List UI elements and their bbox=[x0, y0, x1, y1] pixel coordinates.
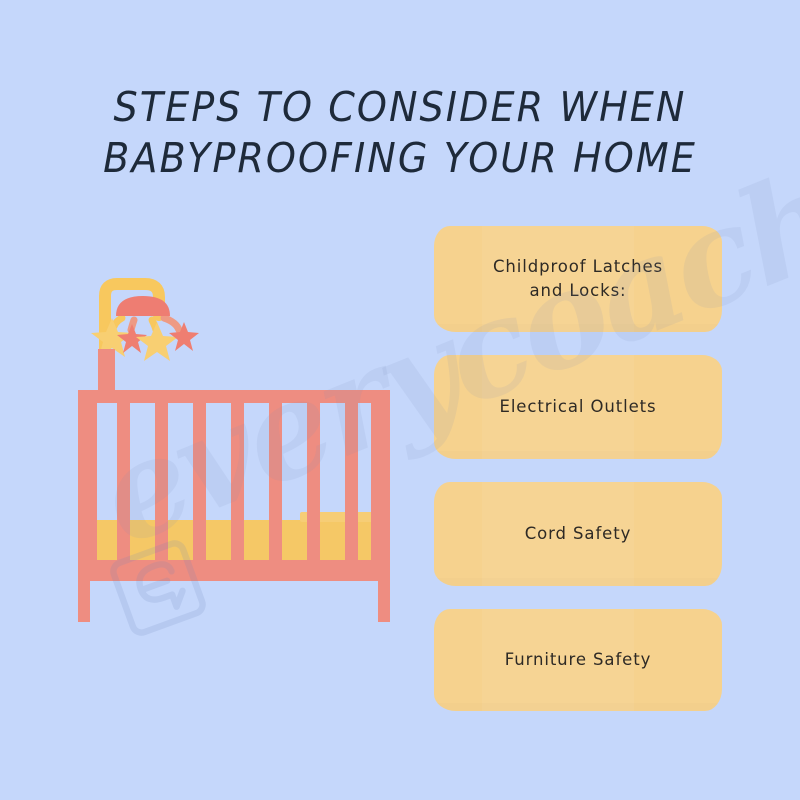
steps-card-list: Childproof Latches and Locks: Electrical… bbox=[434, 226, 722, 711]
step-card-1[interactable]: Childproof Latches and Locks: bbox=[434, 226, 722, 332]
mobile-star-3 bbox=[136, 322, 178, 361]
crib-bottom-rail bbox=[78, 560, 390, 581]
crib-left-post bbox=[78, 390, 97, 567]
mobile-post bbox=[98, 349, 115, 394]
crib-right-post bbox=[371, 390, 390, 567]
infographic-poster: Steps to Consider When Babyproofing Your… bbox=[0, 0, 800, 800]
page-title-line-1: Steps to Consider When bbox=[28, 82, 772, 133]
step-card-1-label: Childproof Latches and Locks: bbox=[479, 255, 677, 303]
step-card-3-label: Cord Safety bbox=[511, 522, 646, 546]
step-card-4-label: Furniture Safety bbox=[491, 648, 666, 672]
page-title: Steps to Consider When Babyproofing Your… bbox=[28, 82, 772, 184]
step-card-4[interactable]: Furniture Safety bbox=[434, 609, 722, 711]
page-title-line-2: Babyproofing Your Home bbox=[28, 133, 772, 184]
step-card-3[interactable]: Cord Safety bbox=[434, 482, 722, 586]
crib-top-rail bbox=[78, 390, 390, 403]
crib-right-leg bbox=[378, 581, 390, 622]
crib-illustration bbox=[60, 270, 412, 622]
step-card-2[interactable]: Electrical Outlets bbox=[434, 355, 722, 459]
step-card-2-label: Electrical Outlets bbox=[486, 395, 671, 419]
crib-left-leg bbox=[78, 581, 90, 622]
mobile-string-4 bbox=[164, 318, 179, 330]
crib-svg bbox=[60, 270, 412, 622]
